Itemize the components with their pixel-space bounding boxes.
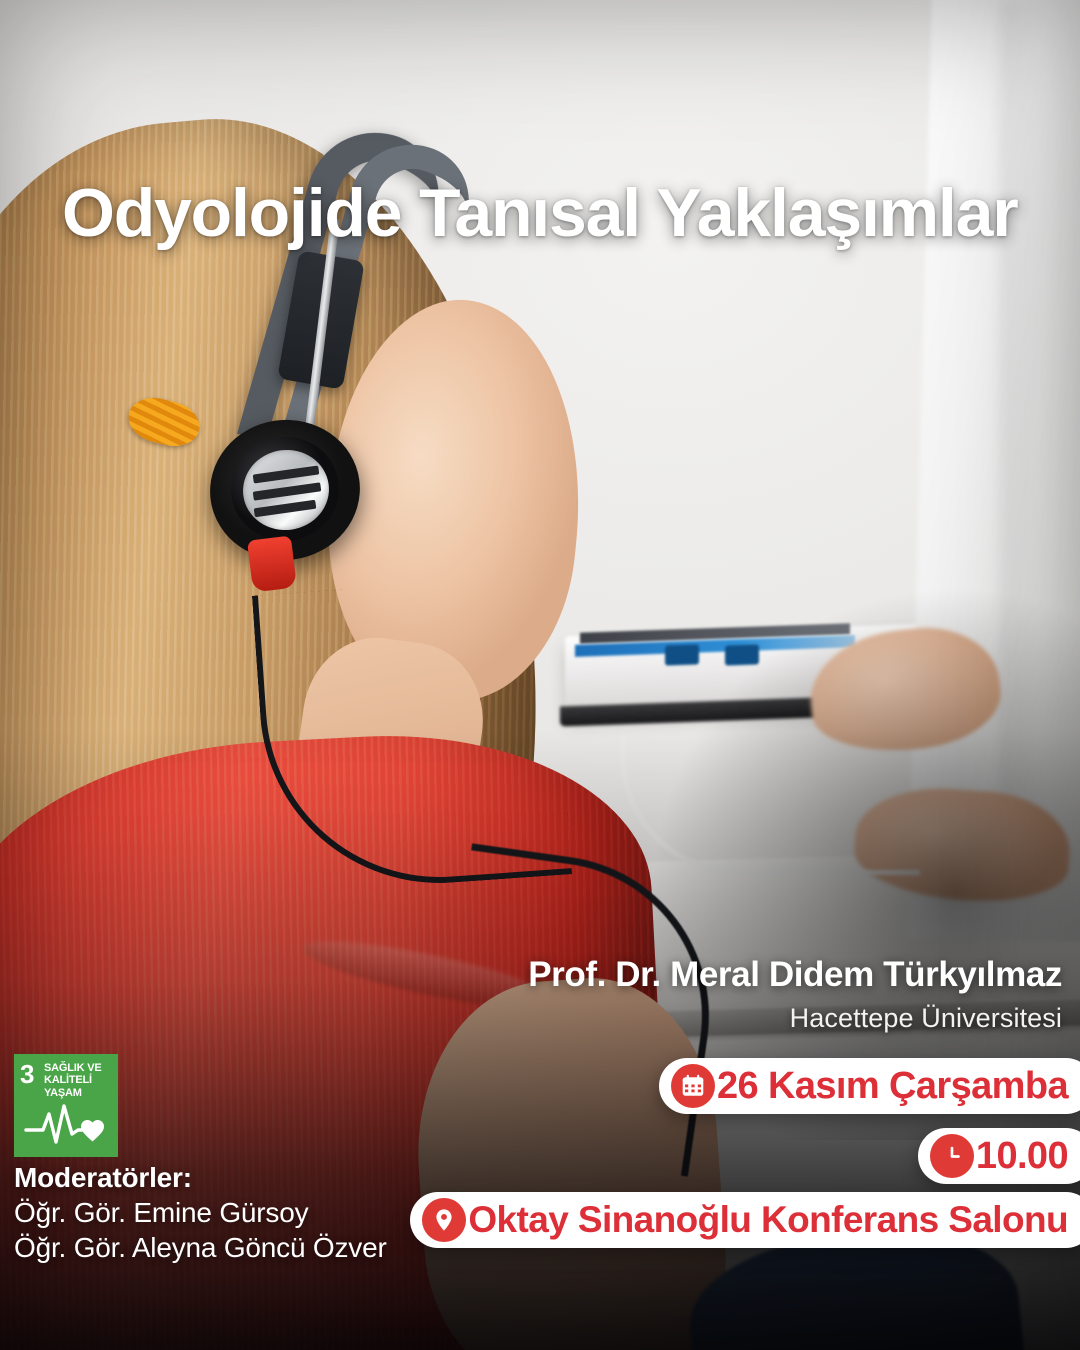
speaker-name: Prof. Dr. Meral Didem Türkyılmaz — [528, 955, 1062, 995]
venue-pill[interactable]: Oktay Sinanoğlu Konferans Salonu — [410, 1192, 1080, 1248]
right-vignette — [460, 520, 1080, 1140]
time-label: 10.00 — [976, 1135, 1068, 1178]
location-pin-icon — [422, 1198, 466, 1242]
speaker-organization: Hacettepe Üniversitesi — [528, 1003, 1062, 1034]
moderator-name: Öğr. Gör. Emine Gürsoy — [14, 1197, 387, 1229]
calendar-icon — [671, 1064, 715, 1108]
time-pill[interactable]: 10.00 — [918, 1128, 1080, 1184]
headphone-red-connector — [247, 536, 297, 593]
date-label: 26 Kasım Çarşamba — [717, 1065, 1068, 1108]
clock-icon — [930, 1134, 974, 1178]
heartbeat-heart-icon — [24, 1100, 108, 1153]
sdg-badge: 3 SAĞLIK VE KALİTELİ YAŞAM — [14, 1054, 118, 1157]
sdg-text-line2: KALİTELİ YAŞAM — [44, 1074, 92, 1098]
moderators-block: Moderatörler: Öğr. Gör. Emine Gürsoy Öğr… — [14, 1162, 387, 1264]
sdg-text: SAĞLIK VE KALİTELİ YAŞAM — [44, 1062, 118, 1099]
sdg-text-line1: SAĞLIK VE — [44, 1062, 102, 1074]
speaker-block: Prof. Dr. Meral Didem Türkyılmaz Hacette… — [528, 955, 1062, 1034]
sdg-number: 3 — [20, 1061, 34, 1087]
moderators-label: Moderatörler: — [14, 1162, 387, 1194]
venue-label: Oktay Sinanoğlu Konferans Salonu — [468, 1199, 1068, 1241]
poster-title: Odyolojide Tanısal Yaklaşımlar — [62, 178, 1072, 249]
event-poster: Odyolojide Tanısal Yaklaşımlar Prof. Dr.… — [0, 0, 1080, 1350]
moderator-name: Öğr. Gör. Aleyna Göncü Özver — [14, 1232, 387, 1264]
date-pill[interactable]: 26 Kasım Çarşamba — [659, 1058, 1080, 1114]
